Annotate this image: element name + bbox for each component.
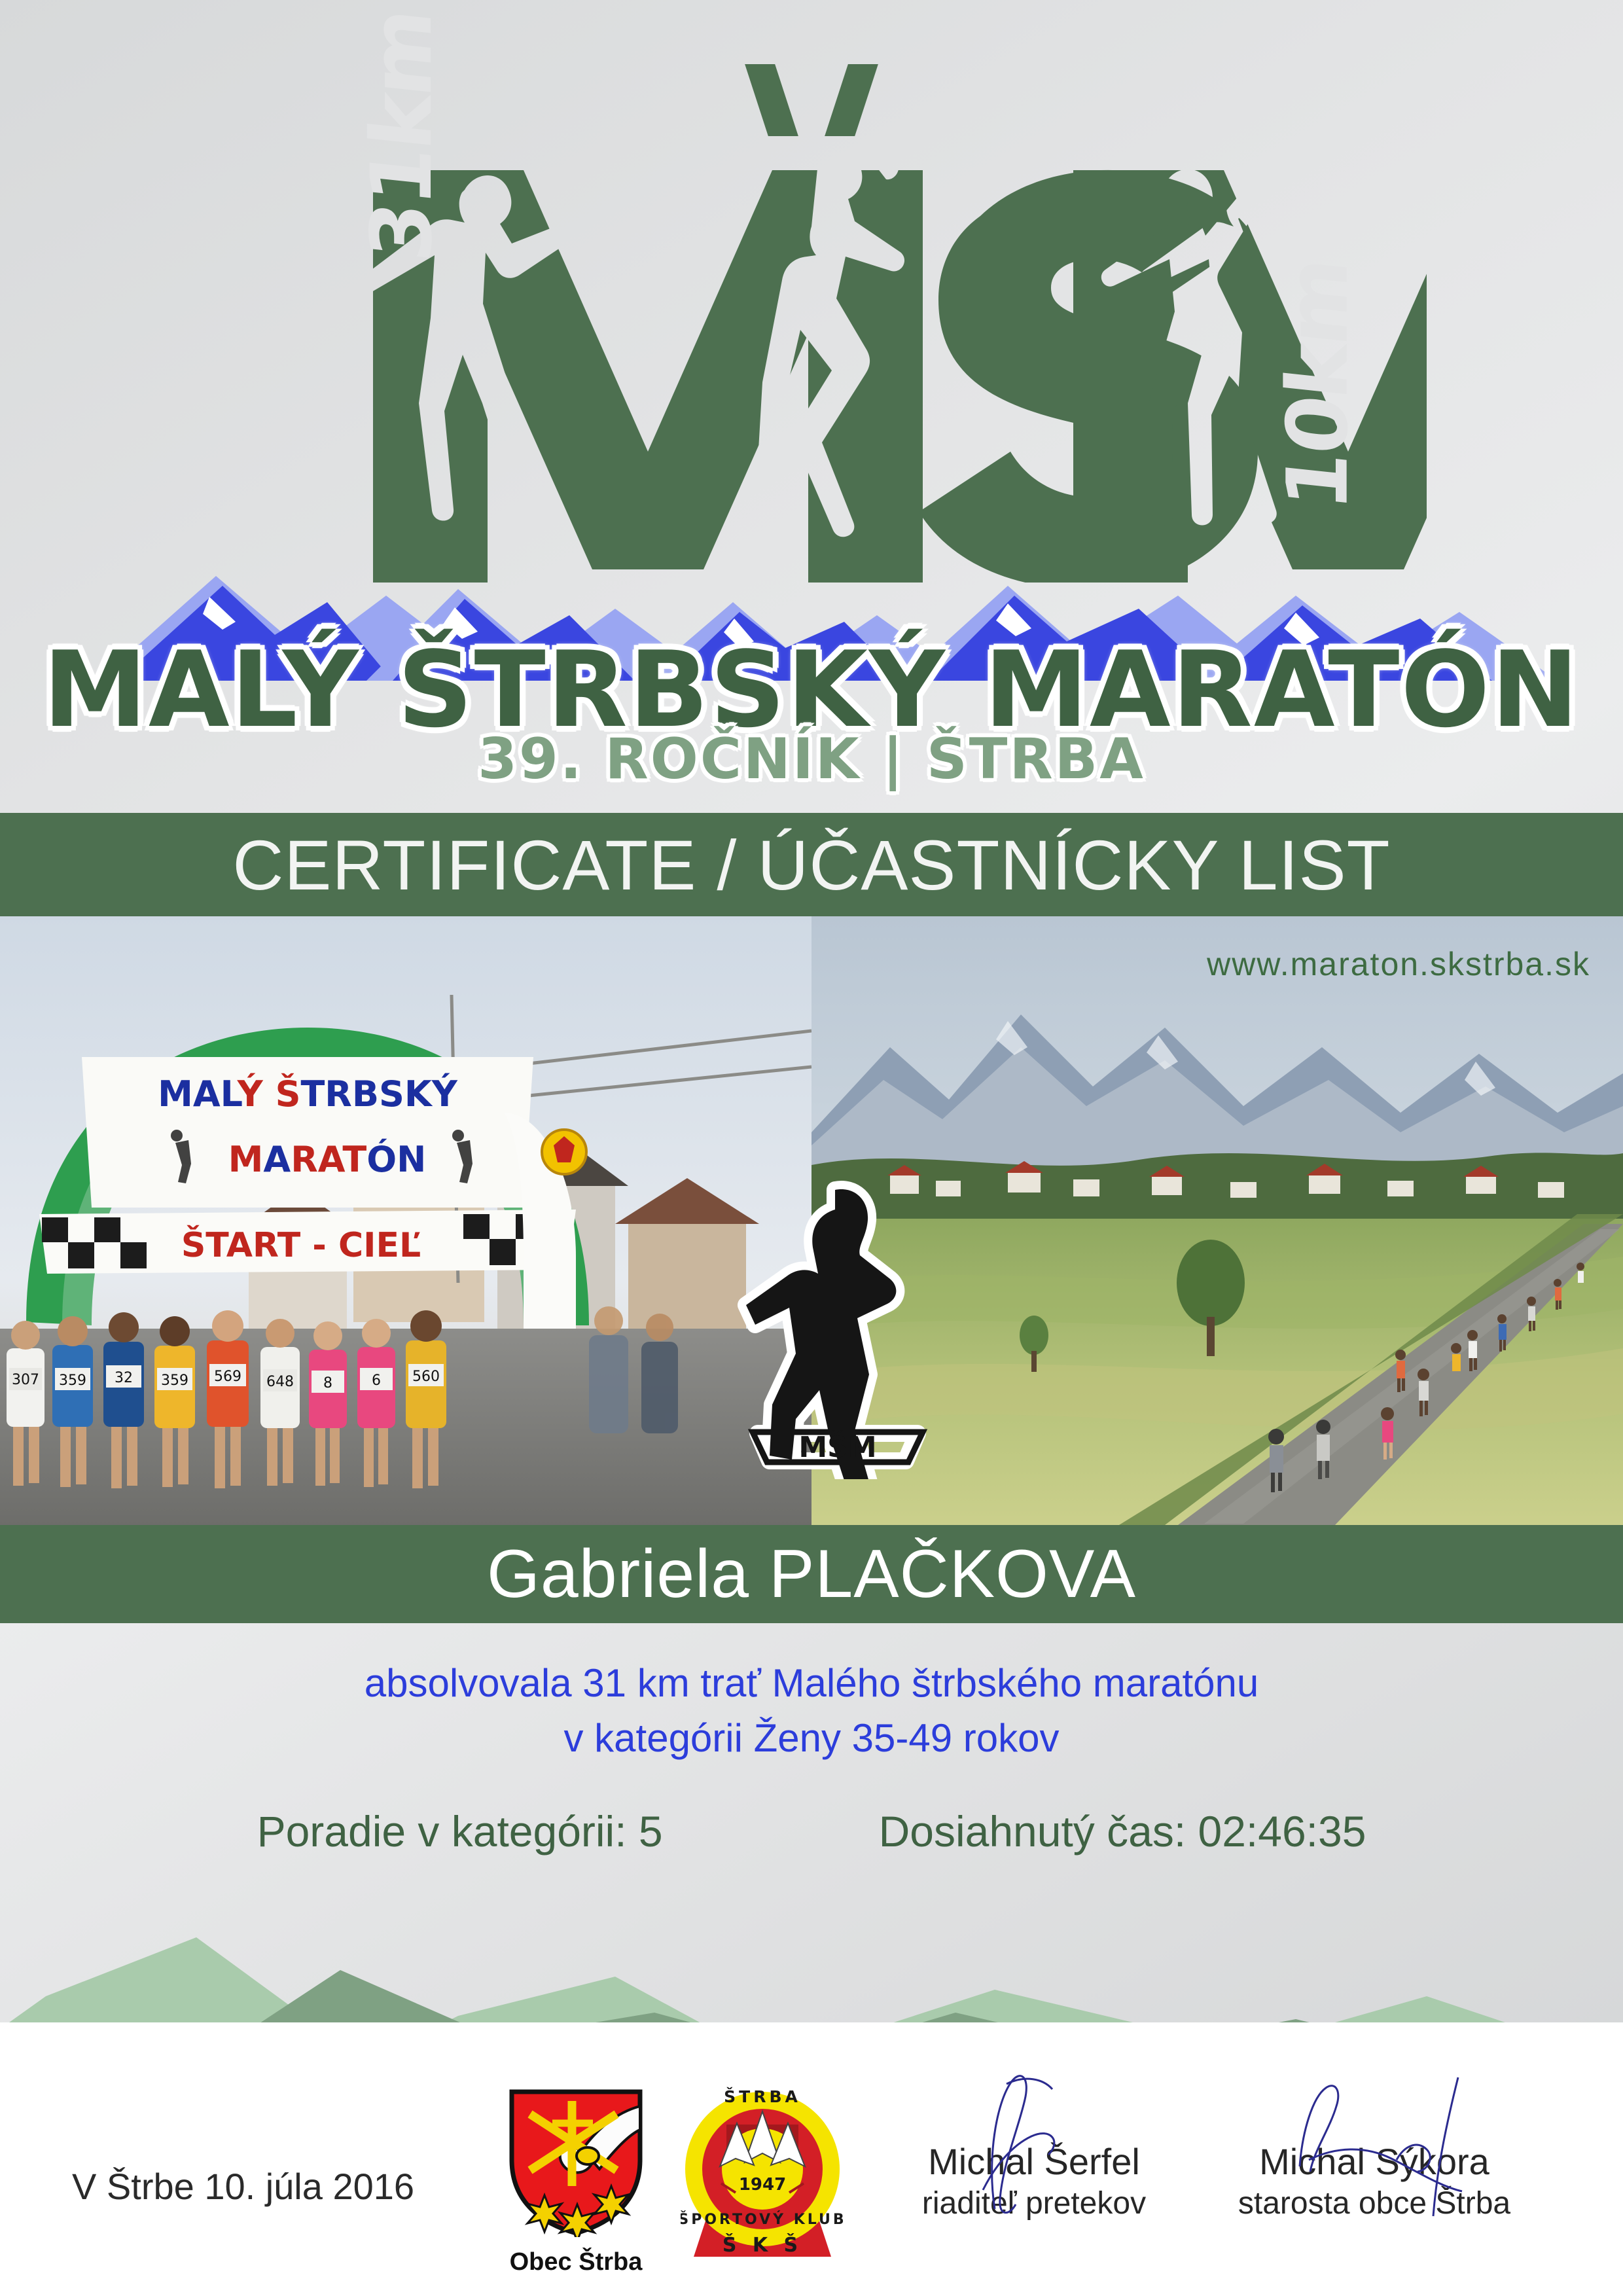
svg-text:359: 359 [161, 1372, 188, 1389]
crest-label: Obec Štrba [504, 2248, 648, 2276]
signature-name-mayor: Michal Sýkora [1204, 2140, 1544, 2183]
svg-text:8: 8 [323, 1375, 332, 1391]
issue-date: V Štrbe 10. júla 2016 [72, 2165, 414, 2208]
svg-text:359: 359 [59, 1372, 86, 1389]
svg-text:307: 307 [12, 1372, 39, 1388]
signature-role-director: riaditeľ pretekov [864, 2185, 1204, 2221]
svg-text:560: 560 [412, 1369, 440, 1385]
svg-text:32: 32 [115, 1370, 133, 1386]
website-url[interactable]: www.maraton.skstrba.sk [1207, 945, 1590, 983]
sks-bottom-text: Š K Š [722, 2233, 802, 2257]
arch-line-1: MALÝ ŠTRBSKÝ [158, 1073, 458, 1115]
rank-value: Poradie v kategórii: 5 [257, 1806, 663, 1856]
arch-line-2: MARATÓN [228, 1139, 427, 1180]
svg-text:6: 6 [372, 1372, 381, 1389]
msm-badge-label: MŠM [798, 1429, 876, 1464]
start-line-illustration: MALÝ ŠTRBSKÝ MARATÓN ŠTAR [0, 916, 811, 1525]
start-line-photo: MALÝ ŠTRBSKÝ MARATÓN ŠTAR [0, 916, 811, 1525]
participant-name: Gabriela PLAČKOVA [487, 1535, 1136, 1613]
obec-strba-crest-icon: Obec Štrba [504, 2087, 648, 2276]
time-value: Dosiahnutý čas: 02:46:35 [879, 1806, 1366, 1856]
sks-top-text: ŠTRBA [724, 2087, 801, 2106]
signature-block-mayor: Michal Sýkora starosta obce Štrba [1204, 2140, 1544, 2221]
sks-arc-text: ŠPORTOVÝ KLUB [681, 2211, 844, 2228]
distance-right-label: 10km [1270, 255, 1367, 514]
certificate-page: 31km 10km [0, 0, 1623, 2296]
distance-left-label: 31km [353, 6, 451, 265]
svg-text:648: 648 [266, 1374, 294, 1390]
event-subtitle: 39. ROČNÍK | ŠTRBA [0, 726, 1623, 792]
header-logo-block: 31km 10km [0, 0, 1623, 810]
certificate-band-label: CERTIFICATE / ÚČASTNÍCKY LIST [232, 824, 1390, 906]
signature-block-director: Michal Šerfel riaditeľ pretekov [864, 2140, 1204, 2221]
msm-runner-badge-icon: MŠM [733, 1172, 942, 1479]
footer: V Štrbe 10. júla 2016 [0, 2022, 1623, 2296]
sks-year: 1947 [739, 2175, 786, 2195]
signature-name-director: Michal Šerfel [864, 2140, 1204, 2183]
certificate-body: absolvovala 31 km trať Malého štrbského … [0, 1656, 1623, 1766]
body-line-2: v kategórii Ženy 35-49 rokov [0, 1711, 1623, 1766]
body-line-1: absolvovala 31 km trať Malého štrbského … [0, 1656, 1623, 1711]
sks-club-logo-icon: ŠTRBA 1947 ŠPORTOVÝ KLUB Š K Š [681, 2085, 844, 2262]
participant-name-band: Gabriela PLAČKOVA [0, 1525, 1623, 1623]
certificate-band: CERTIFICATE / ÚČASTNÍCKY LIST [0, 813, 1623, 916]
results-row: Poradie v kategórii: 5 Dosiahnutý čas: 0… [0, 1806, 1623, 1856]
arch-line-3: ŠTART - CIEĽ [181, 1225, 421, 1265]
svg-text:569: 569 [214, 1369, 241, 1385]
msm-logo: 31km 10km [157, 39, 1466, 583]
signature-role-mayor: starosta obce Štrba [1204, 2185, 1544, 2221]
